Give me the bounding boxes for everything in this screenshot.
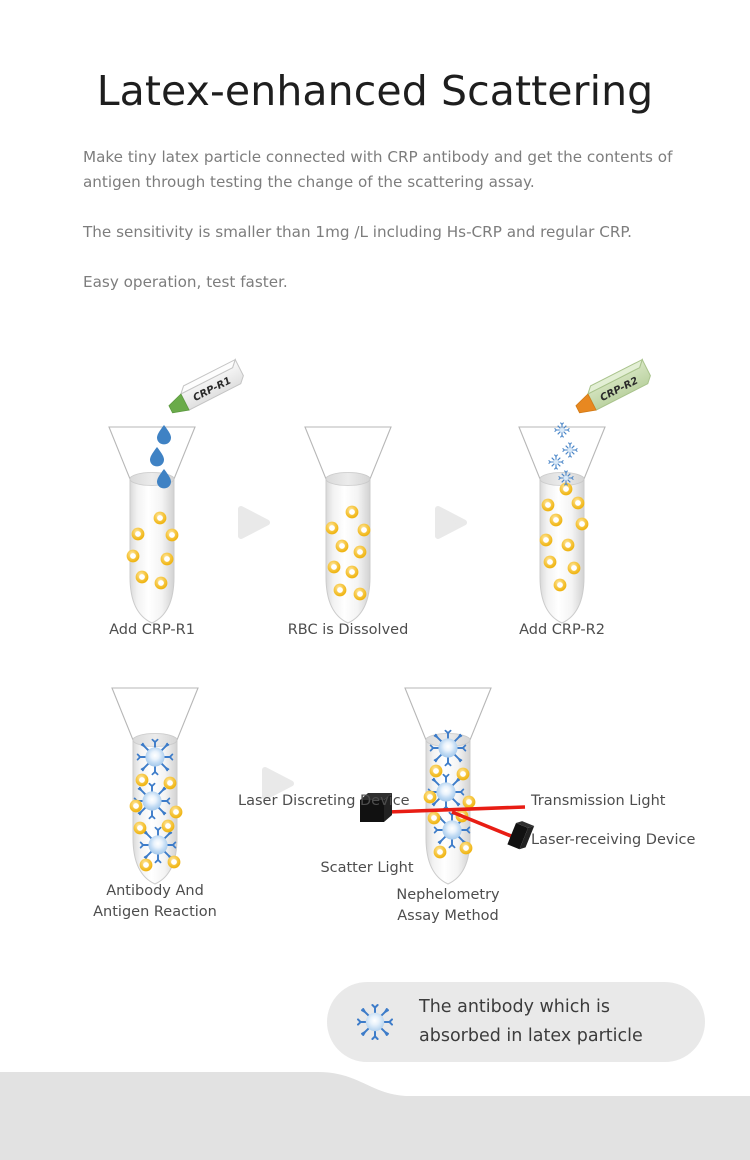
- caption-add-crp-r1: Add CRP-R1: [92, 620, 212, 641]
- flow-arrow-2: [438, 509, 464, 536]
- caption-rbc-dissolved: RBC is Dissolved: [278, 620, 418, 641]
- latex-antibody-particle-icon: [353, 1000, 397, 1044]
- step-antibody-antigen-reaction: [112, 688, 198, 884]
- legend-line-1: The antibody which is: [419, 993, 643, 1022]
- legend-line-2: absorbed in latex particle: [419, 1022, 643, 1051]
- reagent-pipette-crp-r1: CRP-R1: [164, 360, 246, 418]
- annotation-laser-discreting-device: Laser Discreting Device: [238, 791, 413, 812]
- caption-antibody-antigen-reaction: Antibody And Antigen Reaction: [85, 881, 225, 923]
- annotation-laser-receiving-device: Laser-receiving Device: [531, 830, 731, 851]
- legend-text-block: The antibody which is absorbed in latex …: [419, 993, 643, 1051]
- legend-pill: The antibody which is absorbed in latex …: [327, 982, 705, 1062]
- annotation-transmission-light: Transmission Light: [531, 791, 711, 812]
- caption-nephelometry: Nephelometry Assay Method: [378, 885, 518, 927]
- bottom-decoration-shape: [0, 1072, 750, 1160]
- page-root: Latex-enhanced Scattering Make tiny late…: [0, 0, 750, 1160]
- caption-add-crp-r2: Add CRP-R2: [502, 620, 622, 641]
- reagent-pipette-crp-r2: CRP-R2: [571, 360, 653, 418]
- step-rbc-dissolved: [305, 427, 391, 623]
- flow-arrow-1: [241, 509, 267, 536]
- step-nephelometry: [360, 688, 534, 884]
- annotation-scatter-light: Scatter Light: [312, 858, 422, 879]
- step-add-crp-r2: CRP-R2: [519, 360, 653, 623]
- step-add-crp-r1: CRP-R1: [109, 360, 246, 623]
